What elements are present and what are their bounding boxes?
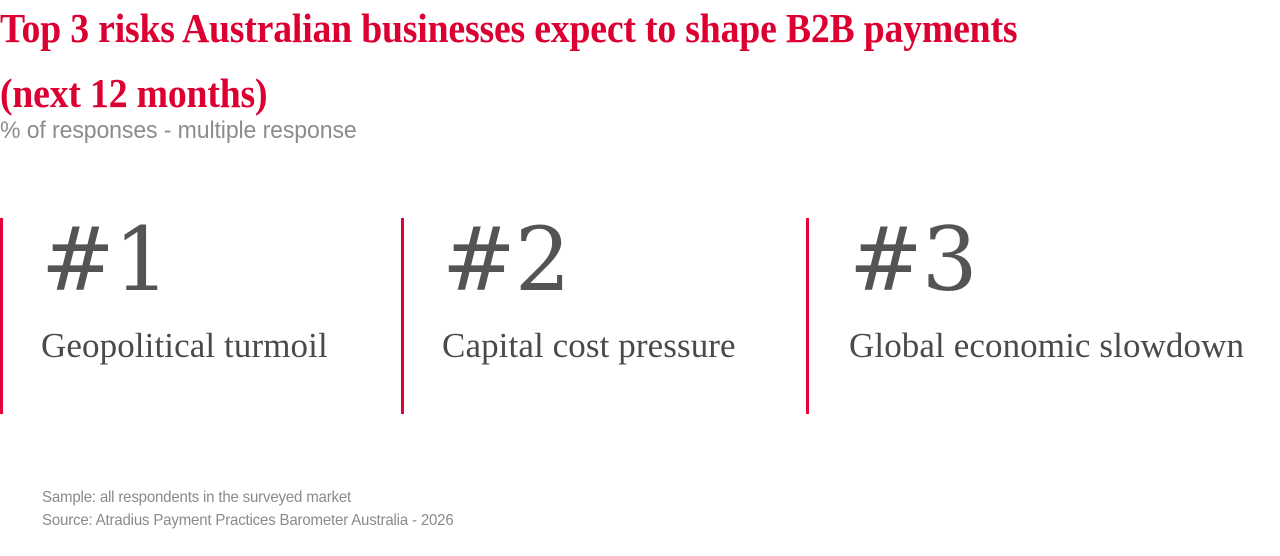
rank-label-1: Geopolitical turmoil: [41, 323, 401, 369]
rank-number-1: #1: [41, 206, 169, 314]
rank-label-2: Capital cost pressure: [442, 323, 802, 369]
page-title: Top 3 risks Australian businesses expect…: [0, 0, 1086, 126]
rank-columns: #1 Geopolitical turmoil #2 Capital cost …: [0, 218, 1280, 414]
rank-number-3: #3: [849, 206, 977, 314]
footnote-source: Source: Atradius Payment Practices Barom…: [42, 509, 454, 532]
rank-column-1: #1 Geopolitical turmoil: [0, 218, 401, 414]
footnote-sample: Sample: all respondents in the surveyed …: [42, 486, 454, 509]
rank-column-3: #3 Global economic slowdown: [806, 218, 1226, 414]
rank-number-2: #2: [442, 206, 570, 314]
rank-column-2: #2 Capital cost pressure: [401, 218, 806, 414]
infographic-root: Top 3 risks Australian businesses expect…: [0, 0, 1280, 556]
rank-label-3: Global economic slowdown: [849, 323, 1249, 369]
footnote: Sample: all respondents in the surveyed …: [42, 486, 454, 532]
page-subtitle: % of responses - multiple response: [0, 115, 357, 147]
